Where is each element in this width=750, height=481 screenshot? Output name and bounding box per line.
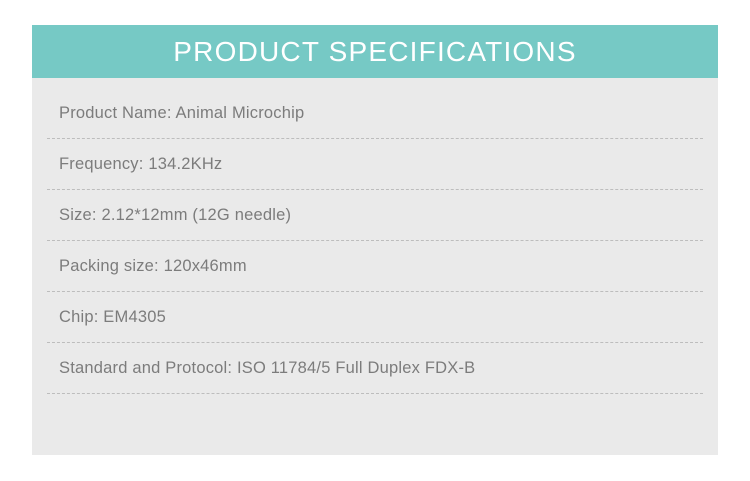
specifications-list: Product Name: Animal Microchip Frequency…	[32, 78, 718, 394]
list-item: Size: 2.12*12mm (12G needle)	[47, 190, 703, 241]
spec-row-size: Size: 2.12*12mm (12G needle)	[47, 206, 291, 225]
list-item: Frequency: 134.2KHz	[47, 139, 703, 190]
spec-row-chip: Chip: EM4305	[47, 308, 166, 327]
list-item: Packing size: 120x46mm	[47, 241, 703, 292]
list-item: Standard and Protocol: ISO 11784/5 Full …	[47, 343, 703, 394]
spec-row-standard-and-protocol: Standard and Protocol: ISO 11784/5 Full …	[47, 359, 475, 378]
spec-row-packing-size: Packing size: 120x46mm	[47, 257, 247, 276]
list-item: Chip: EM4305	[47, 292, 703, 343]
spec-row-frequency: Frequency: 134.2KHz	[47, 155, 222, 174]
list-item: Product Name: Animal Microchip	[47, 88, 703, 139]
card-header: PRODUCT SPECIFICATIONS	[32, 25, 718, 78]
page-title: PRODUCT SPECIFICATIONS	[173, 38, 576, 66]
product-specifications-card: PRODUCT SPECIFICATIONS Product Name: Ani…	[32, 25, 718, 455]
spec-row-product-name: Product Name: Animal Microchip	[47, 104, 304, 123]
